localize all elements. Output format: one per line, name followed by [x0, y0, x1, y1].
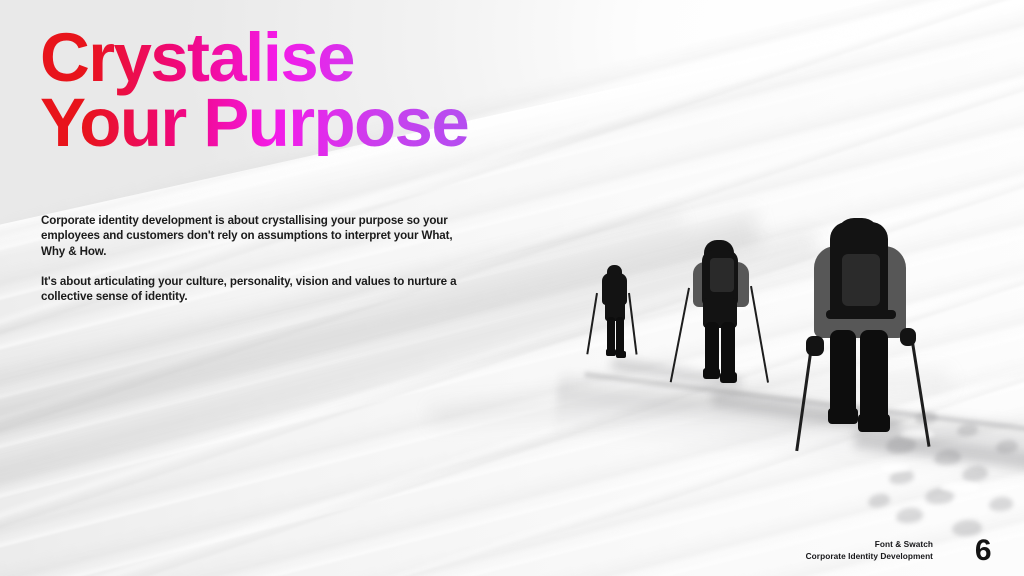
body-paragraph-2: It's about articulating your culture, pe… [41, 274, 471, 305]
presentation-slide: Crystalise Your Purpose Corporate identi… [0, 0, 1024, 576]
body-paragraph-1: Corporate identity development is about … [41, 213, 471, 259]
hiker-leg [616, 317, 624, 355]
footer-subtitle: Corporate Identity Development [806, 551, 933, 563]
hiker-backpack-lid [842, 254, 880, 306]
trekking-pole [795, 346, 813, 451]
hiker-boot [703, 368, 720, 379]
hiker-boot [858, 414, 890, 432]
trekking-pole [910, 336, 930, 447]
hiker-boot [828, 408, 858, 424]
hiker-glove [806, 336, 824, 356]
hiker-leg [830, 330, 856, 416]
footer-brand: Font & Swatch [806, 539, 933, 551]
hiker-boot [606, 349, 616, 356]
hiker-leg [607, 317, 615, 353]
footprint-highlight [940, 482, 980, 492]
page-title: Crystalise Your Purpose [40, 26, 468, 156]
hiker-boot [720, 372, 737, 383]
hiker-leg [860, 330, 888, 422]
hiker-backpack-lid [710, 258, 734, 292]
page-number: 6 [975, 536, 991, 566]
hiker-foreground [792, 218, 932, 438]
hiker-leg [705, 322, 719, 374]
hiker-glove [900, 328, 916, 346]
trekking-pole [750, 286, 769, 383]
hiker-distant [592, 265, 640, 365]
trekking-pole [628, 293, 637, 355]
hiker-shoulder-strap [826, 310, 896, 319]
slide-footer: Font & Swatch Corporate Identity Develop… [806, 539, 933, 562]
footprint-highlight [880, 464, 910, 472]
hiker-leg [721, 322, 735, 378]
hiker-boot [616, 351, 626, 358]
hiker-middle [676, 240, 768, 390]
